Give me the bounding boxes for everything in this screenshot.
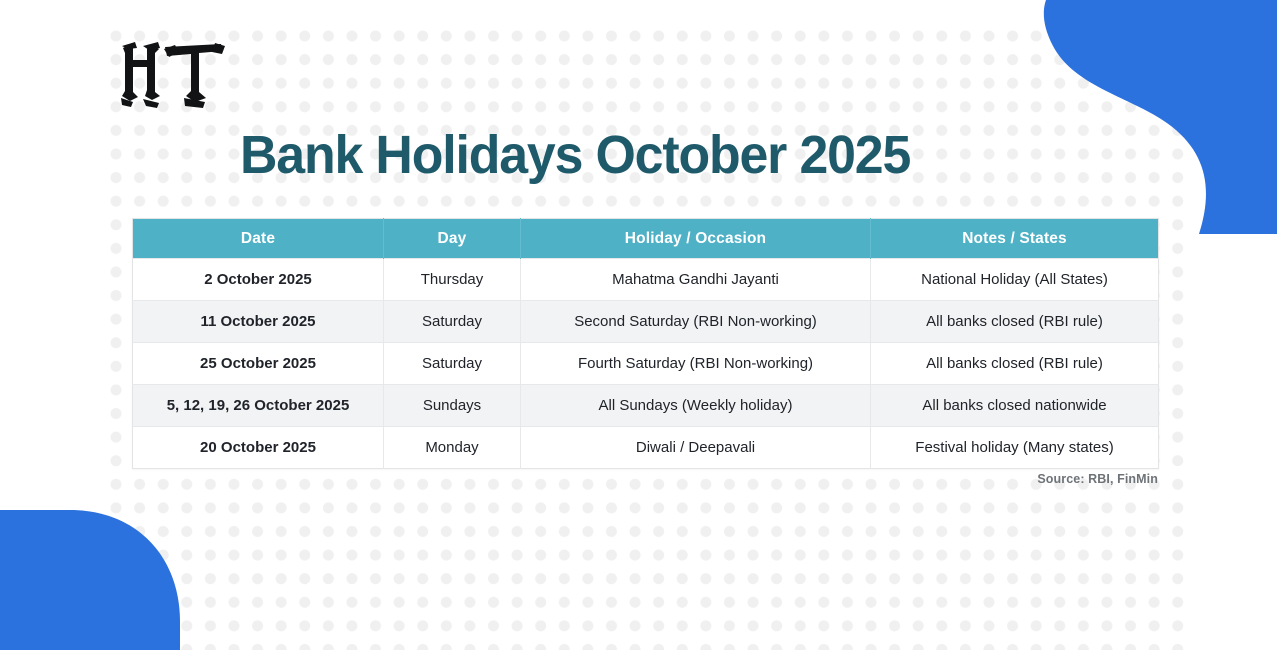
cell-day: Saturday [384,343,521,385]
cell-date: 25 October 2025 [133,343,384,385]
cell-day: Saturday [384,301,521,343]
bank-holidays-table: Date Day Holiday / Occasion Notes / Stat… [132,218,1159,469]
cell-occasion: Diwali / Deepavali [521,427,871,469]
page-title: Bank Holidays October 2025 [240,126,1104,184]
column-header-day[interactable]: Day [384,219,521,259]
cell-day: Sundays [384,385,521,427]
blue-curved-blob-decoration [1031,0,1277,234]
table-row: 2 October 2025 Thursday Mahatma Gandhi J… [133,259,1159,301]
table-body: 2 October 2025 Thursday Mahatma Gandhi J… [133,259,1159,469]
table-row: 25 October 2025 Saturday Fourth Saturday… [133,343,1159,385]
cell-notes: All banks closed (RBI rule) [871,343,1159,385]
infographic-canvas: Bank Holidays October 2025 Date Day Holi… [0,0,1277,650]
table-row: 20 October 2025 Monday Diwali / Deepaval… [133,427,1159,469]
cell-notes: Festival holiday (Many states) [871,427,1159,469]
table-row: 11 October 2025 Saturday Second Saturday… [133,301,1159,343]
cell-day: Thursday [384,259,521,301]
column-header-date[interactable]: Date [133,219,384,259]
column-header-notes[interactable]: Notes / States [871,219,1159,259]
cell-date: 20 October 2025 [133,427,384,469]
cell-notes: All banks closed nationwide [871,385,1159,427]
cell-notes: All banks closed (RBI rule) [871,301,1159,343]
column-header-occasion[interactable]: Holiday / Occasion [521,219,871,259]
cell-date: 5, 12, 19, 26 October 2025 [133,385,384,427]
cell-occasion: Fourth Saturday (RBI Non-working) [521,343,871,385]
table-row: 5, 12, 19, 26 October 2025 Sundays All S… [133,385,1159,427]
cell-notes: National Holiday (All States) [871,259,1159,301]
table-header-row: Date Day Holiday / Occasion Notes / Stat… [133,219,1159,259]
cell-occasion: All Sundays (Weekly holiday) [521,385,871,427]
bank-holidays-table-container: Date Day Holiday / Occasion Notes / Stat… [132,218,1158,469]
cell-day: Monday [384,427,521,469]
source-attribution: Source: RBI, FinMin [132,472,1158,486]
ht-logo-glyph [121,40,225,108]
blue-rounded-blob-decoration [0,510,190,650]
cell-occasion: Second Saturday (RBI Non-working) [521,301,871,343]
hindustan-times-logo[interactable] [121,40,225,108]
table-header: Date Day Holiday / Occasion Notes / Stat… [133,219,1159,259]
cell-occasion: Mahatma Gandhi Jayanti [521,259,871,301]
cell-date: 2 October 2025 [133,259,384,301]
cell-date: 11 October 2025 [133,301,384,343]
